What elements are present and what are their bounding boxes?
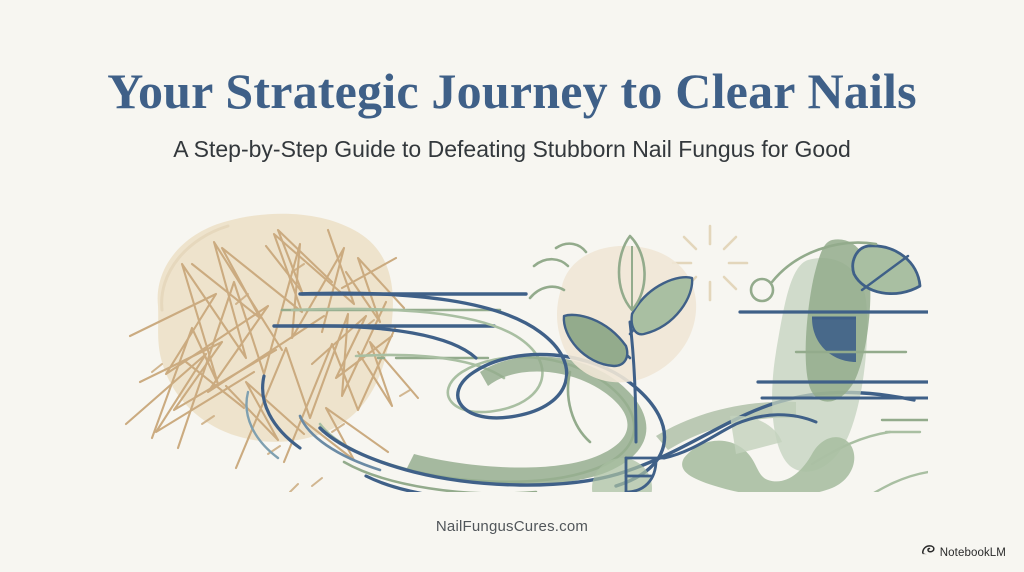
page-title: Your Strategic Journey to Clear Nails bbox=[0, 62, 1024, 120]
notebooklm-label: NotebookLM bbox=[940, 547, 1006, 559]
notebooklm-logo-icon bbox=[921, 543, 935, 562]
leaf-outline-navy bbox=[853, 246, 920, 294]
footer-url: NailFungusCures.com bbox=[0, 518, 1024, 535]
page-subtitle: A Step-by-Step Guide to Defeating Stubbo… bbox=[0, 136, 1024, 163]
presentation-slide: Your Strategic Journey to Clear Nails A … bbox=[0, 0, 1024, 572]
hero-illustration bbox=[96, 186, 928, 492]
notebooklm-watermark: NotebookLM bbox=[921, 543, 1006, 562]
